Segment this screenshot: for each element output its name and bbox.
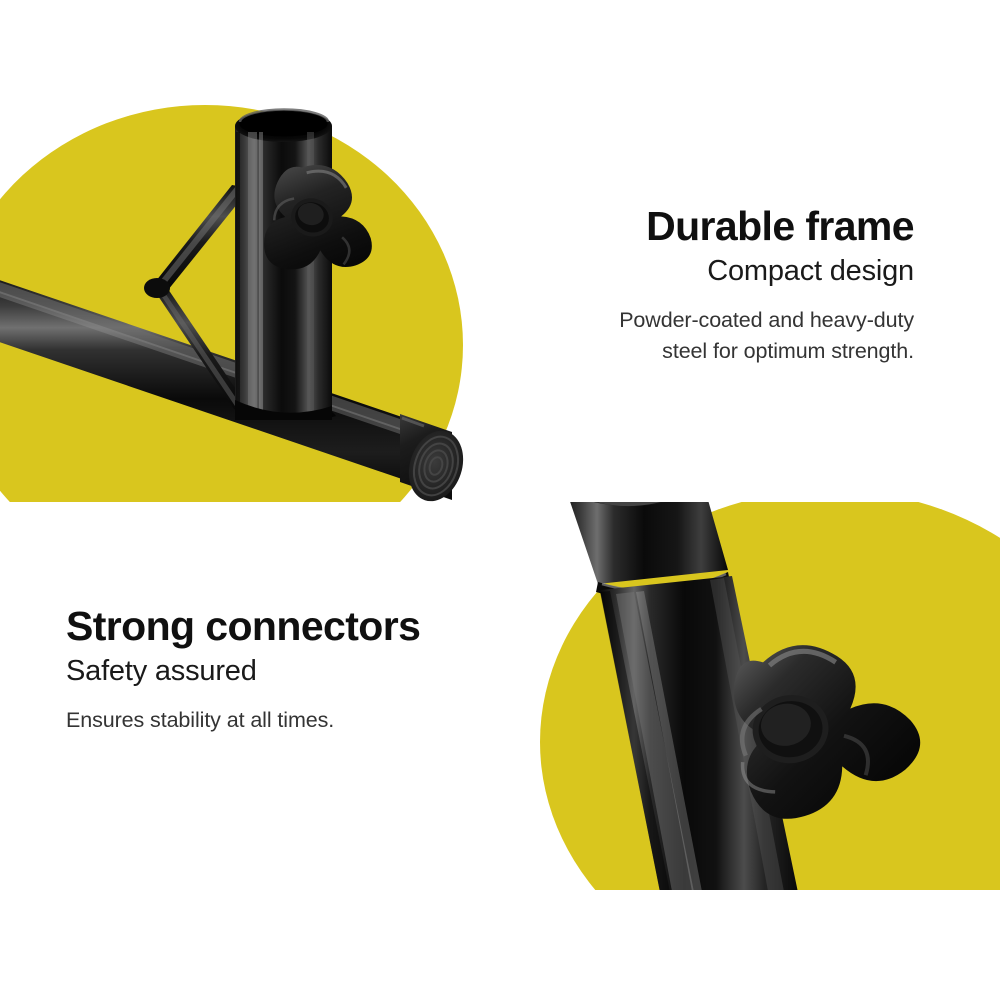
feature-body-strong-connectors: Ensures stability at all times. bbox=[66, 705, 500, 736]
feature-subtitle-strong-connectors: Safety assured bbox=[66, 652, 500, 691]
feature-body-line: Ensures stability at all times. bbox=[66, 705, 500, 736]
feature-body-line: Powder-coated and heavy-duty bbox=[500, 305, 914, 336]
brace-weld-joint bbox=[144, 278, 170, 298]
product-feature-infographic: Durable frame Compact design Powder-coat… bbox=[0, 0, 1000, 1000]
frame-joint-photo bbox=[0, 0, 500, 502]
knob-connector-photo bbox=[500, 502, 1000, 890]
feature-subtitle-durable-frame: Compact design bbox=[500, 252, 914, 291]
feature-text-durable-frame: Durable frame Compact design Powder-coat… bbox=[500, 205, 970, 366]
feature-body-line: steel for optimum strength. bbox=[500, 336, 914, 367]
feature-body-durable-frame: Powder-coated and heavy-duty steel for o… bbox=[500, 305, 914, 366]
feature-title-durable-frame: Durable frame bbox=[500, 205, 914, 248]
frame-joint-photo-canvas bbox=[0, 0, 500, 502]
feature-title-strong-connectors: Strong connectors bbox=[66, 605, 500, 648]
knob-connector-photo-canvas bbox=[500, 502, 1000, 890]
feature-text-strong-connectors: Strong connectors Safety assured Ensures… bbox=[30, 605, 500, 736]
